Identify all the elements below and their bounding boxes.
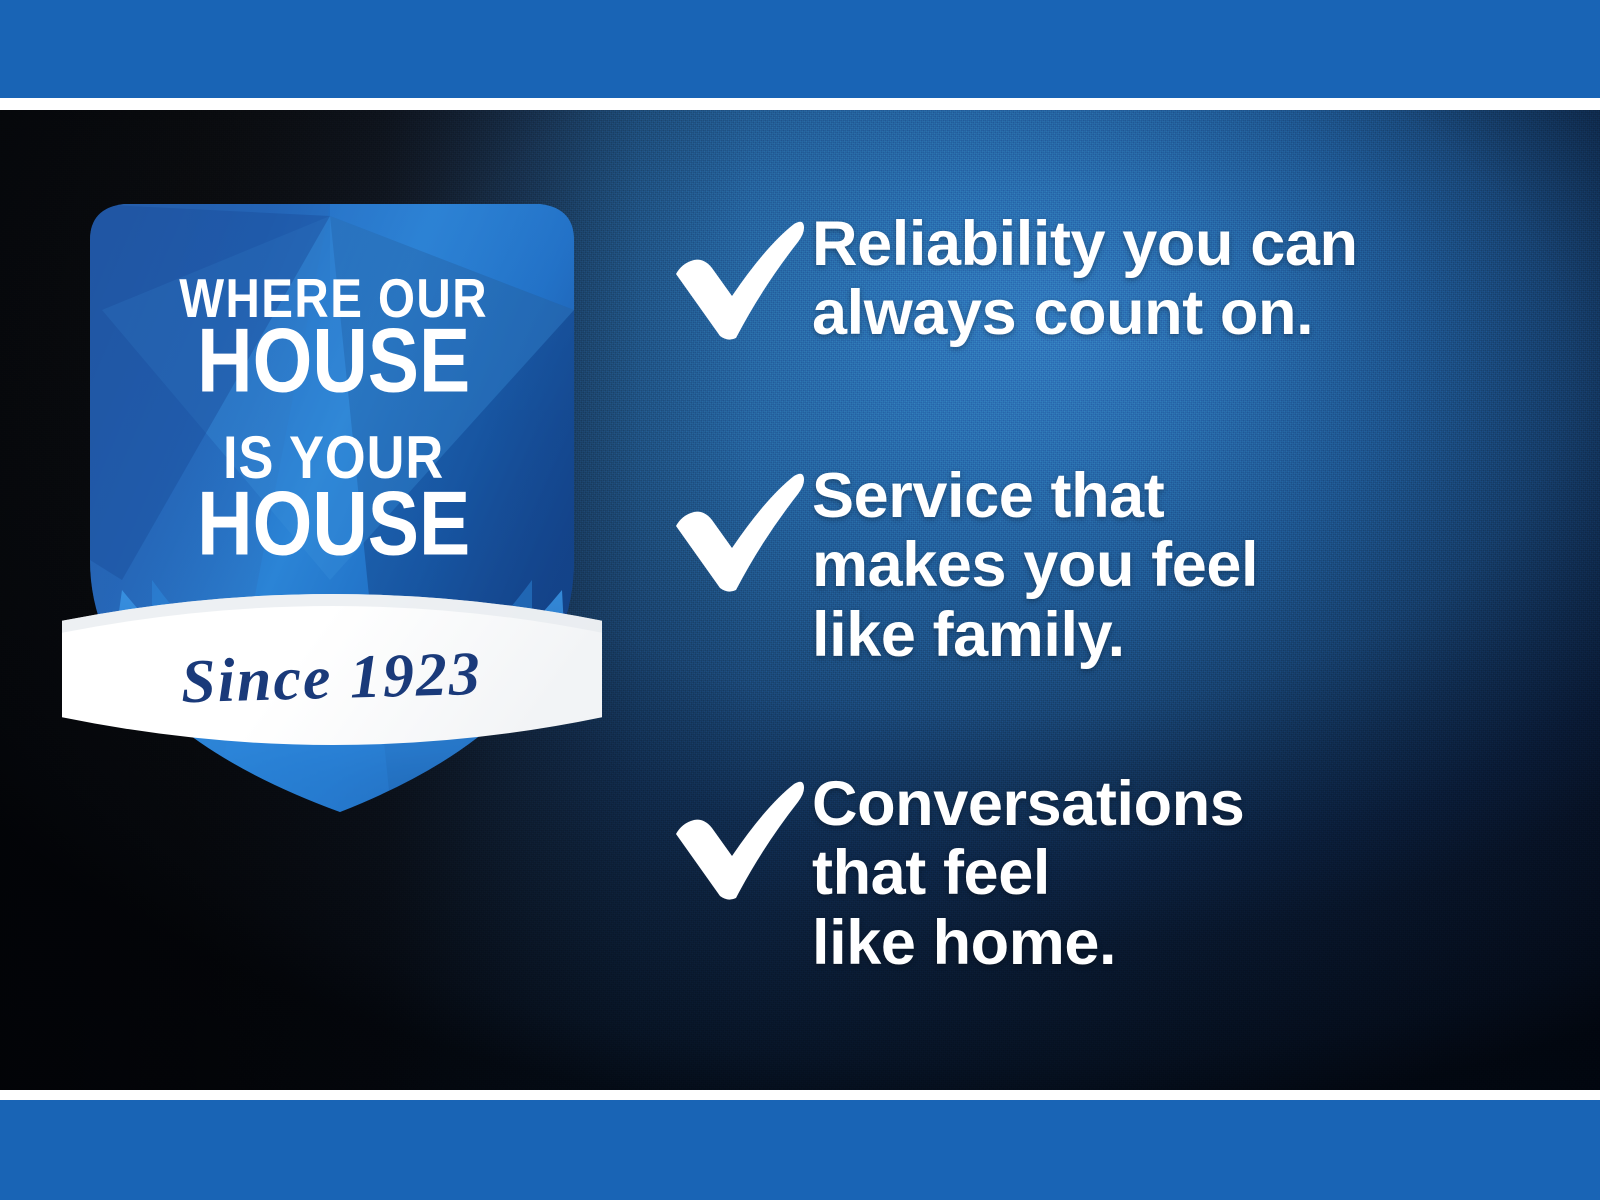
ribbon-since-text: Since 1923 xyxy=(180,640,483,716)
bottom-brand-bar xyxy=(0,1100,1600,1200)
check-icon xyxy=(670,216,806,342)
check-icon xyxy=(670,776,806,902)
benefit-text-conversations: Conversations that feel like home. xyxy=(806,770,1570,978)
benefit-item-service: Service that makes you feel like family. xyxy=(670,462,1570,670)
benefit-text-reliability: Reliability you can always count on. xyxy=(806,210,1570,349)
benefit-item-reliability: Reliability you can always count on. xyxy=(670,210,1570,349)
benefit-item-conversations: Conversations that feel like home. xyxy=(670,770,1570,978)
logo-line-2: HOUSE xyxy=(197,309,470,411)
benefits-list: Reliability you can always count on. Ser… xyxy=(670,110,1570,1090)
logo-line-4: HOUSE xyxy=(197,472,470,574)
benefit-text-service: Service that makes you feel like family. xyxy=(806,462,1570,670)
check-icon xyxy=(670,468,806,594)
company-shield-logo: WHERE OUR HOUSE IS YOUR HOUSE Since 1923 xyxy=(62,160,602,820)
top-brand-bar xyxy=(0,0,1600,98)
promo-banner: WHERE OUR HOUSE IS YOUR HOUSE Since 1923… xyxy=(0,0,1600,1200)
shield-graphic: WHERE OUR HOUSE IS YOUR HOUSE Since 1923 xyxy=(62,160,602,820)
